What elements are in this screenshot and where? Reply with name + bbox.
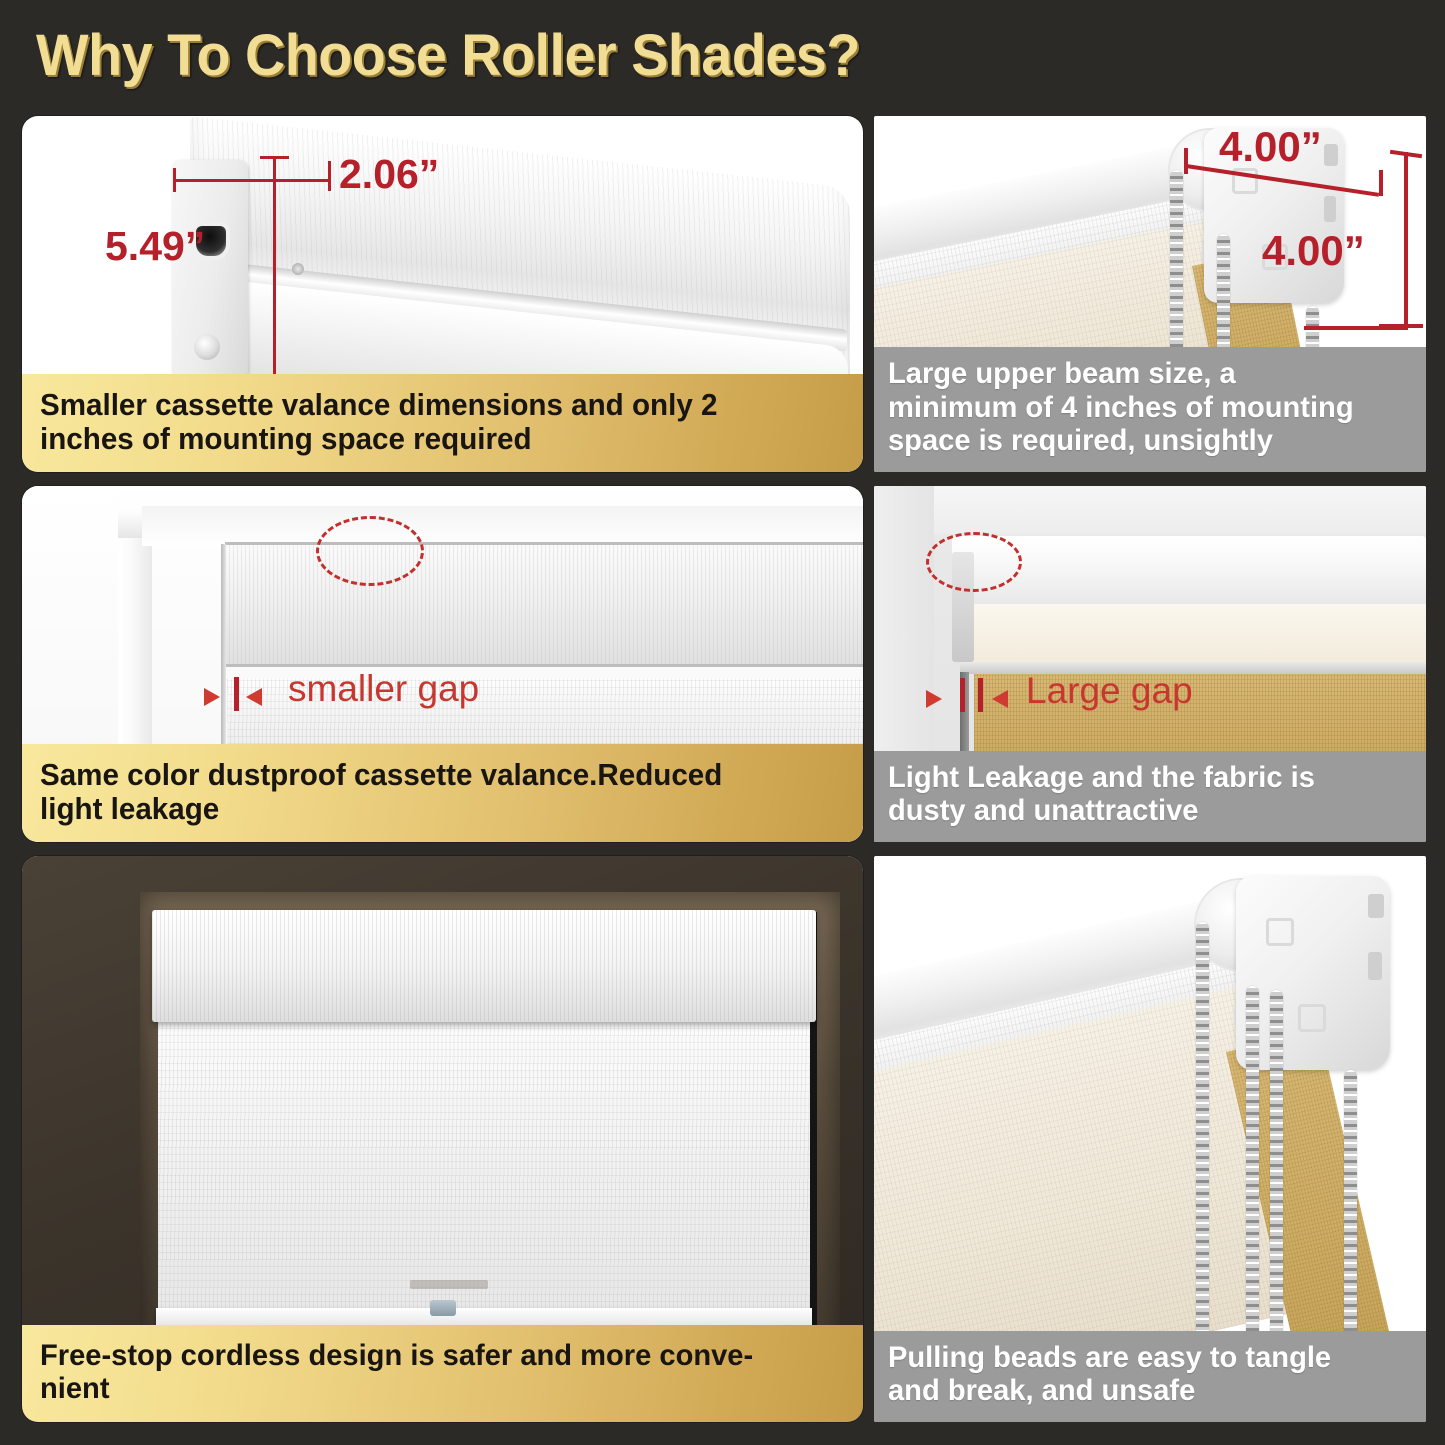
bracket-notch-top	[1368, 894, 1384, 918]
beam-width-tick-right	[1379, 170, 1383, 196]
bracket-notch-bottom	[1324, 196, 1336, 222]
gap-arrow-left	[204, 688, 220, 706]
panel-caption-large-upper-beam: Large upper beam size, a minimum of 4 in…	[874, 347, 1426, 472]
gap-arrow-left	[926, 690, 942, 708]
roller-shade-fabric	[158, 1016, 810, 1316]
gap-arrow-right	[246, 688, 262, 706]
panel-caption-pulling-beads: Pulling beads are easy to tangle and bre…	[874, 1331, 1426, 1422]
panel-large-upper-beam: 4.00” 4.00” Large upper beam size, a min…	[874, 116, 1426, 472]
beam-width-tick-left	[1184, 148, 1188, 174]
panel-caption-cordless-design: Free-stop cordless design is safer and m…	[22, 1325, 863, 1422]
gap-measure-bar-b	[978, 678, 983, 712]
shade-brand-logo	[410, 1280, 488, 1289]
caption-line-1: Same color dustproof cassette valance.Re…	[40, 758, 821, 792]
beam-height-label: 4.00”	[1262, 227, 1365, 275]
bracket-screw-icon	[194, 334, 220, 360]
caption-line-2: minimum of 4 inches of mounting	[888, 391, 1396, 425]
panel-light-leakage: Large gap Light Leakage and the fabric i…	[874, 486, 1426, 842]
bracket-notch-bottom	[1368, 952, 1382, 980]
highlight-ellipse-large-gap	[926, 532, 1022, 592]
caption-line-2: dusty and unattractive	[888, 794, 1396, 828]
width-dimension-tick-left	[173, 168, 176, 192]
panel-caption-smaller-gap: Same color dustproof cassette valance.Re…	[22, 744, 863, 842]
highlight-ellipse-smaller-gap	[316, 516, 424, 586]
gap-measure-bar-a	[960, 678, 965, 712]
width-dimension-label: 2.06”	[339, 151, 439, 198]
panel-pulling-beads: Pulling beads are easy to tangle and bre…	[874, 856, 1426, 1422]
bracket-emboss-lower-icon	[1298, 1004, 1326, 1032]
valance-bottom-hairline	[225, 664, 863, 667]
caption-line-1: Light Leakage and the fabric is	[888, 761, 1396, 795]
panel-caption-light-leakage: Light Leakage and the fabric is dusty an…	[874, 751, 1426, 842]
beam-width-label: 4.00”	[1219, 123, 1322, 171]
height-dimension-tick-top	[260, 156, 289, 159]
panel-cordless-design: Free-stop cordless design is safer and m…	[22, 856, 863, 1422]
ceiling-band	[874, 486, 1426, 534]
bracket-screw-small-icon	[292, 263, 304, 275]
gap-label-large: Large gap	[1026, 670, 1193, 712]
height-dimension-label: 5.49”	[105, 223, 205, 270]
gap-label-smaller: smaller gap	[288, 668, 479, 710]
shade-pull-tab	[430, 1300, 456, 1316]
bead-chain-left	[1196, 922, 1209, 1342]
panel-cassette-dimensions: 5.49” 2.06” Smaller cassette valance dim…	[22, 116, 863, 472]
gap-measure-bar	[234, 677, 239, 711]
shade-bottom-hem	[156, 1308, 812, 1326]
width-dimension-line	[175, 179, 331, 182]
caption-line-2: nient	[40, 1372, 821, 1406]
panel-smaller-gap: smaller gap Same color dustproof cassett…	[22, 486, 863, 842]
caption-line-3: space is required, unsightly	[888, 424, 1396, 458]
comparison-grid: 5.49” 2.06” Smaller cassette valance dim…	[0, 0, 1445, 1445]
bead-chain-middle	[1246, 986, 1259, 1342]
window-trim-bevel	[142, 506, 863, 546]
roller-tube-installed	[952, 536, 1426, 608]
panel-caption-cassette-dimensions: Smaller cassette valance dimensions and …	[22, 374, 863, 472]
caption-line-2: inches of mounting space required	[40, 422, 821, 456]
beam-height-leader-line	[1304, 326, 1408, 330]
white-fabric-band	[960, 604, 1426, 666]
gap-arrow-right	[992, 690, 1008, 708]
caption-line-1: Smaller cassette valance dimensions and …	[40, 388, 821, 422]
bracket-notch-top	[1324, 144, 1338, 166]
bead-chain-right	[1344, 1070, 1357, 1342]
bracket-emboss-upper-icon	[1266, 918, 1294, 946]
caption-line-1: Free-stop cordless design is safer and m…	[40, 1339, 821, 1373]
caption-line-1: Pulling beads are easy to tangle	[888, 1341, 1396, 1375]
caption-line-2: light leakage	[40, 792, 821, 826]
infographic-page: Why To Choose Roller Shades? 5.49”	[0, 0, 1445, 1445]
caption-line-2: and break, and unsafe	[888, 1374, 1396, 1408]
width-dimension-tick-right	[328, 161, 331, 191]
bead-chain-middle-2	[1270, 990, 1283, 1342]
cassette-valance-installed	[152, 910, 816, 1022]
mounting-bracket-plate	[1236, 876, 1390, 1070]
beam-height-dimension-line	[1404, 152, 1408, 327]
caption-line-1: Large upper beam size, a	[888, 357, 1396, 391]
